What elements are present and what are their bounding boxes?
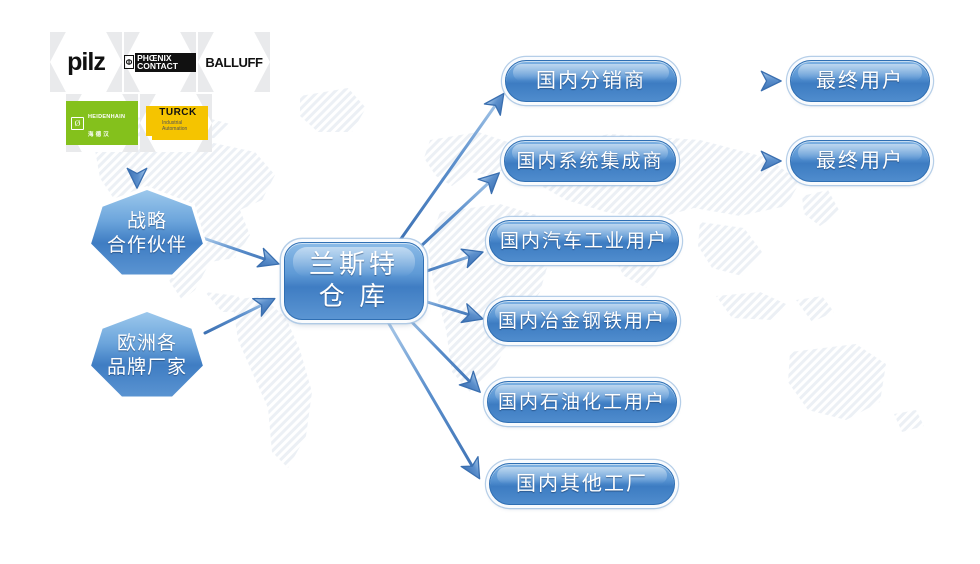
node-label: 最终用户 [816, 69, 904, 93]
phoenix-mark-icon: Φ [124, 55, 134, 69]
balluff-wordmark: BALLUFF [205, 55, 262, 70]
edge-brands-to-warehouse [205, 300, 272, 333]
node-label: 国内系统集成商 [516, 150, 663, 173]
node-label: 国内分销商 [536, 69, 646, 93]
node-steel-users[interactable]: 国内冶金钢铁用户 [487, 300, 677, 342]
node-end-user-1[interactable]: 最终用户 [790, 60, 930, 102]
edge-warehouse-to-petrochemical [403, 313, 478, 390]
node-label: 国内石油化工用户 [498, 391, 666, 414]
node-automotive-users[interactable]: 国内汽车工业用户 [489, 220, 679, 262]
logo-tile-phoenix-contact: Φ PHŒNIX CONTACT [124, 32, 196, 92]
logo-tile-heidenhain: Ø HEIDENHAIN 海 德 汉 [66, 94, 138, 152]
node-end-user-2[interactable]: 最终用户 [790, 140, 930, 182]
edge-partners-to-warehouse [203, 238, 276, 263]
logo-tile-balluff: BALLUFF [198, 32, 270, 92]
pilz-wordmark: pilz [67, 48, 105, 77]
node-label: 最终用户 [816, 149, 904, 173]
pilz-logo: pilz [50, 32, 122, 92]
heidenhain-text-group: HEIDENHAIN 海 德 汉 [88, 105, 125, 141]
node-label: 兰斯特 仓 库 [309, 249, 399, 313]
turck-logo: TURCK Industrial Automation [140, 94, 212, 152]
turck-wordmark: TURCK [152, 107, 204, 118]
node-system-integrator[interactable]: 国内系统集成商 [504, 140, 676, 182]
turck-subtext: Industrial Automation [162, 120, 187, 132]
logo-tile-turck: TURCK Industrial Automation [140, 94, 212, 152]
node-warehouse[interactable]: 兰斯特 仓 库 [284, 242, 424, 320]
balluff-logo: BALLUFF [198, 32, 270, 92]
node-label: 战略 合作伙伴 [107, 210, 187, 258]
phoenix-contact-logo: Φ PHŒNIX CONTACT [124, 32, 196, 92]
heidenhain-wordmark: HEIDENHAIN [88, 114, 125, 120]
heidenhain-subtext: 海 德 汉 [88, 132, 109, 138]
heidenhain-green-block: Ø HEIDENHAIN 海 德 汉 [66, 101, 138, 145]
node-petrochemical-users[interactable]: 国内石油化工用户 [487, 381, 677, 423]
node-label: 国内汽车工业用户 [500, 230, 668, 253]
heidenhain-logo: Ø HEIDENHAIN 海 德 汉 [66, 94, 138, 152]
logo-tile-pilz: pilz [50, 32, 122, 92]
node-label: 国内冶金钢铁用户 [498, 310, 666, 333]
turck-yellow-block: TURCK Industrial Automation [140, 102, 212, 144]
node-label: 欧洲各 品牌厂家 [107, 332, 187, 380]
phoenix-wordmark: Φ PHŒNIX CONTACT [124, 53, 196, 72]
node-other-factories[interactable]: 国内其他工厂 [489, 463, 675, 505]
diagram-canvas: pilz Φ PHŒNIX CONTACT BALLUFF Ø [0, 0, 980, 564]
node-label: 国内其他工厂 [516, 472, 648, 496]
phoenix-text: PHŒNIX CONTACT [135, 53, 196, 72]
heidenhain-mark-icon: Ø [71, 117, 84, 130]
node-distributor[interactable]: 国内分销商 [505, 60, 677, 102]
supplier-logo-group: pilz Φ PHŒNIX CONTACT BALLUFF Ø [50, 32, 270, 152]
edge-warehouse-to-automotive [415, 253, 480, 275]
